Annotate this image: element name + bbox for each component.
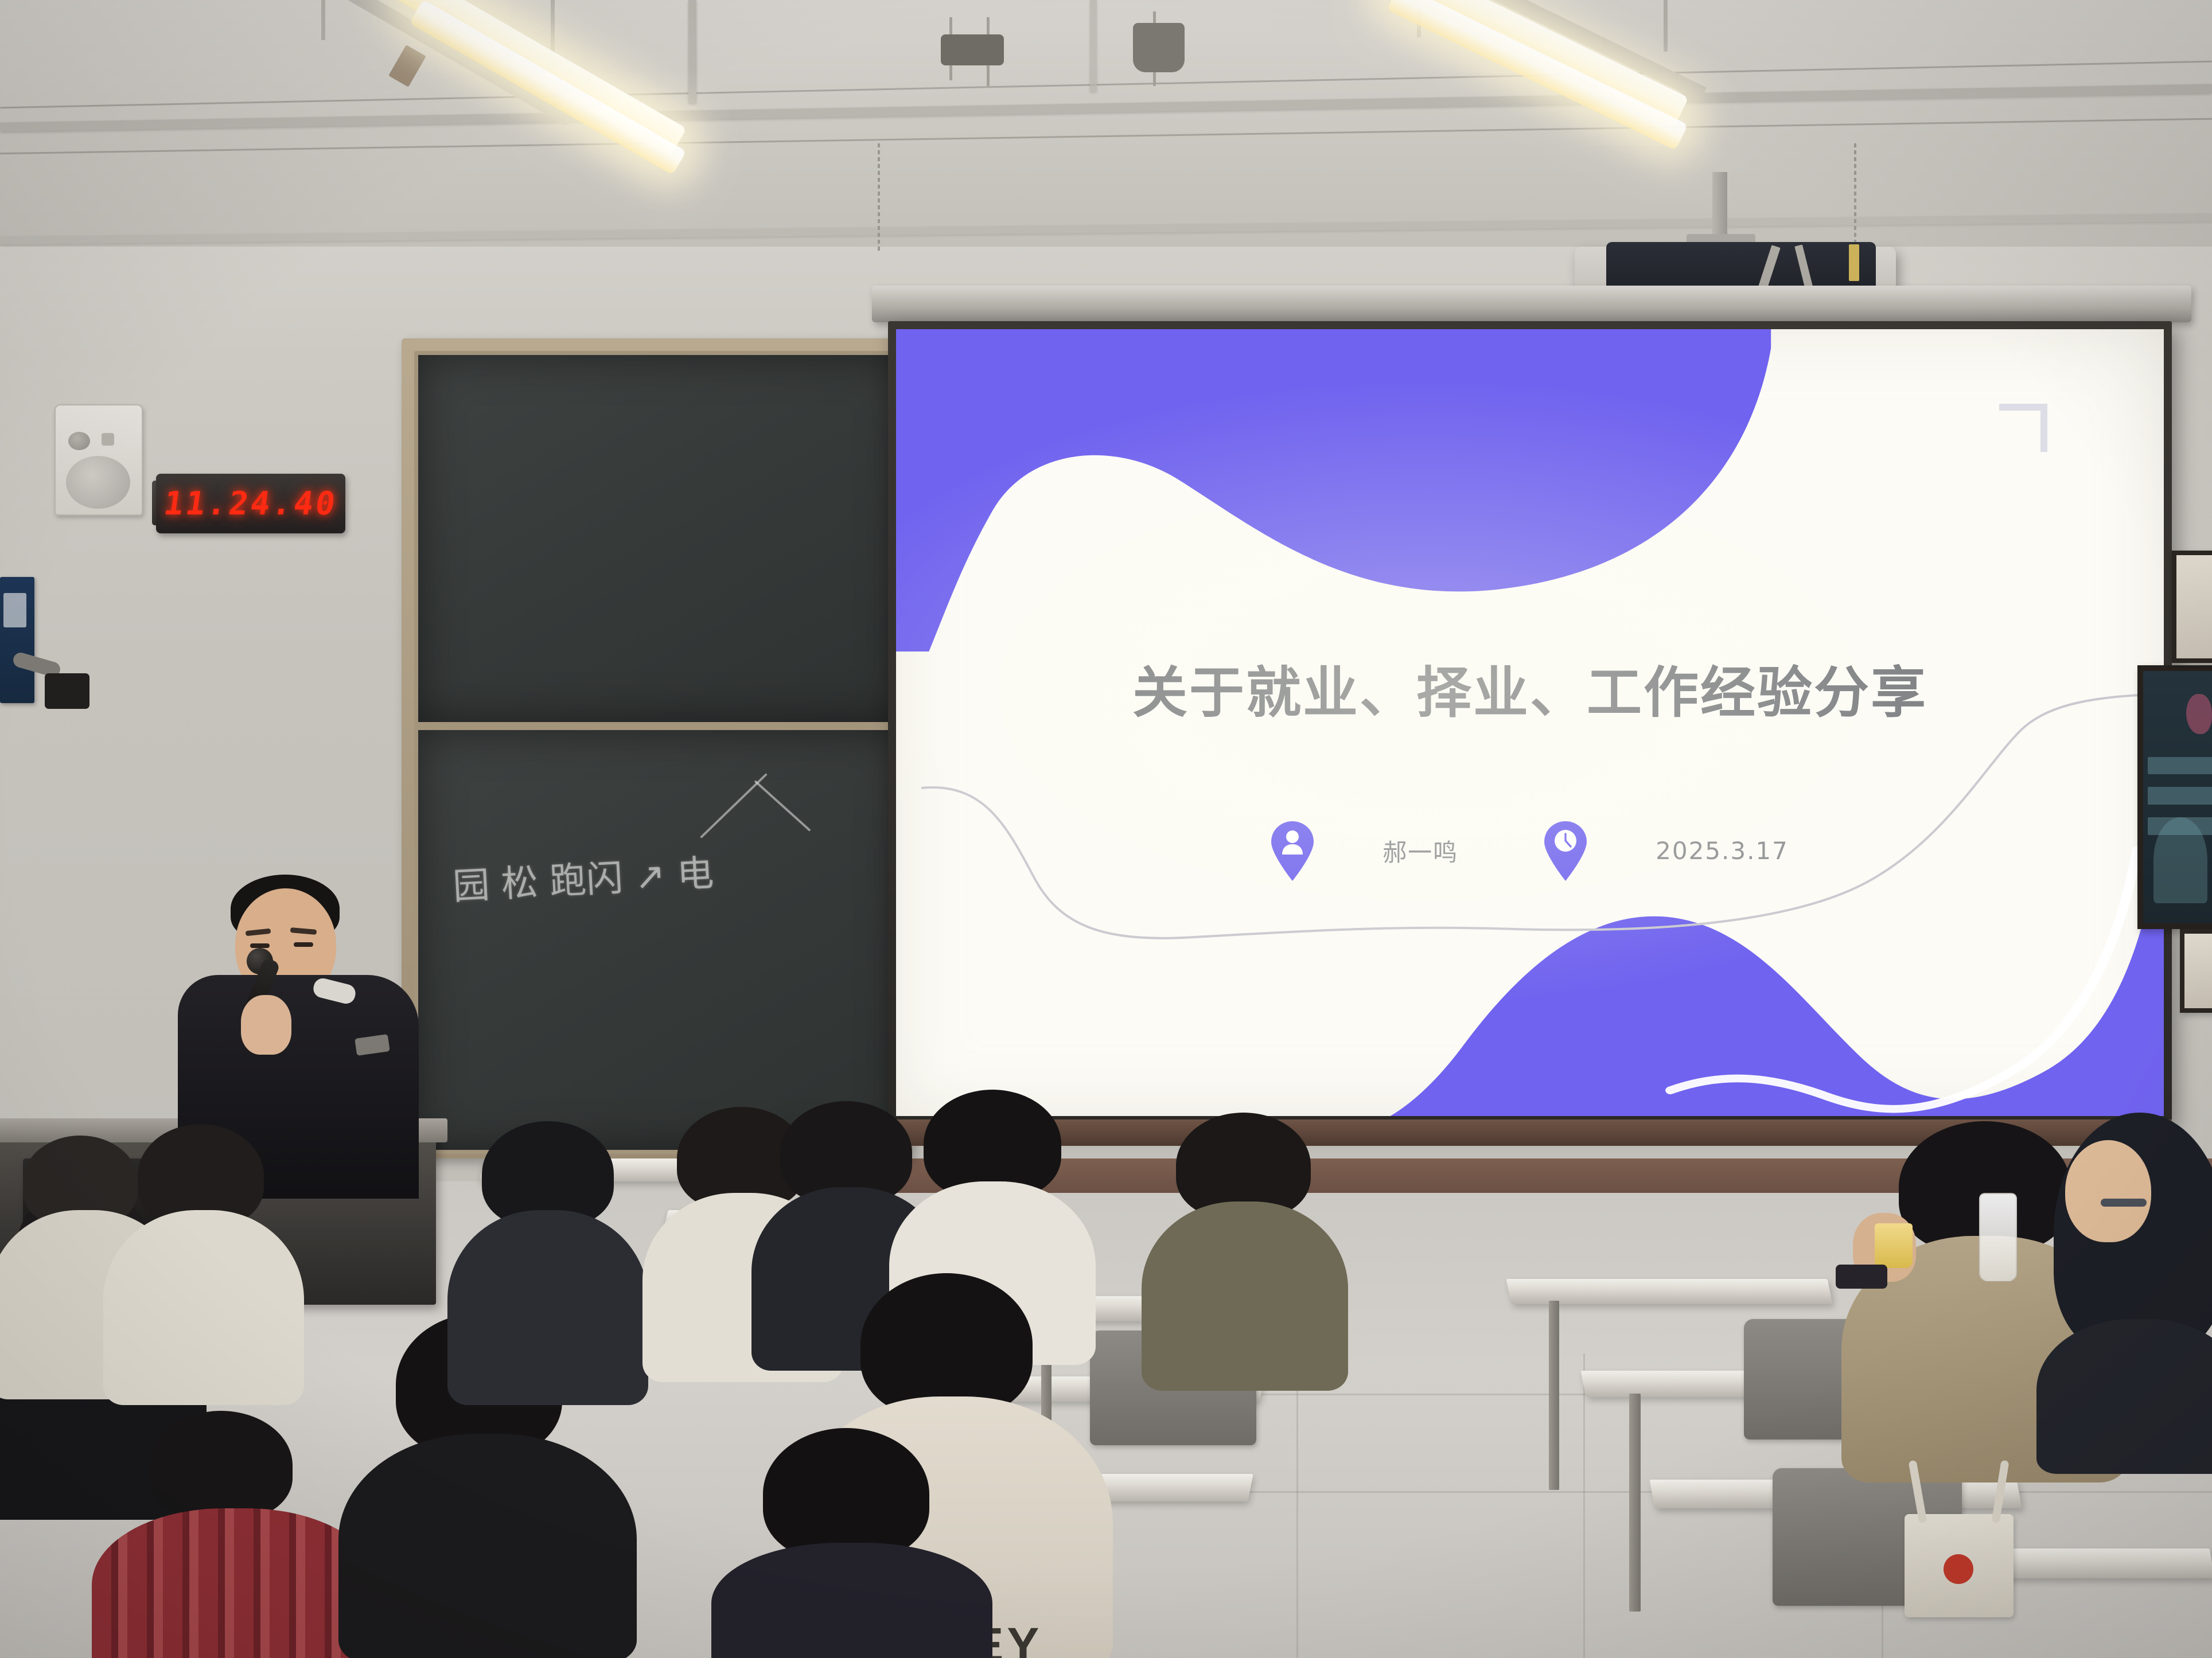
student-hair bbox=[860, 1273, 1033, 1417]
student-dark-jacket bbox=[447, 1121, 642, 1396]
presenter-hand bbox=[241, 995, 291, 1055]
slide-canvas: 关于就业、择业、工作经验分享 郝一鸣 bbox=[896, 329, 2164, 1116]
sign-pictogram bbox=[3, 593, 26, 627]
poster-text-band bbox=[2148, 787, 2212, 805]
student-body bbox=[711, 1543, 992, 1658]
desk-leg bbox=[1629, 1394, 1641, 1612]
student-body bbox=[338, 1434, 637, 1658]
projection-screen: 关于就业、择业、工作经验分享 郝一鸣 bbox=[888, 321, 2172, 1124]
student-hair bbox=[763, 1428, 929, 1560]
floor-tile-line bbox=[1583, 1353, 1585, 1658]
presenter-name: 郝一鸣 bbox=[1382, 833, 1458, 868]
student-body bbox=[2036, 1319, 2212, 1474]
student-body bbox=[1142, 1201, 1348, 1391]
screen-roller-housing bbox=[872, 286, 2191, 322]
desk-leg bbox=[1549, 1301, 1559, 1490]
wall-poster-light bbox=[2180, 929, 2212, 1013]
student-body bbox=[447, 1210, 648, 1405]
student-front-center bbox=[711, 1428, 987, 1657]
water-bottle bbox=[1979, 1193, 2017, 1281]
wall-speaker bbox=[54, 404, 143, 516]
decorative-wave-top-left bbox=[896, 329, 1771, 676]
ceiling-beam-vertical bbox=[688, 0, 696, 103]
presenter-meta: 郝一鸣 bbox=[1271, 821, 1458, 881]
speaker-port bbox=[102, 433, 114, 446]
camera-body bbox=[45, 673, 89, 709]
poster-text-band bbox=[2148, 757, 2212, 775]
student-olive-jacket bbox=[1136, 1113, 1342, 1382]
speaker-woofer bbox=[66, 456, 130, 509]
person-pin-icon bbox=[1271, 821, 1314, 881]
tote-bag bbox=[1905, 1514, 2014, 1617]
presenter-eye bbox=[250, 943, 270, 948]
slide-meta-row: 郝一鸣 2025.3.17 bbox=[896, 821, 2164, 881]
student-hair bbox=[149, 1411, 293, 1520]
light-support-rod bbox=[1664, 0, 1668, 52]
student-body bbox=[103, 1210, 304, 1405]
ceiling-speaker-dome bbox=[1133, 23, 1185, 72]
poster-inner bbox=[2143, 671, 2212, 923]
pen-in-mouth bbox=[2101, 1199, 2147, 1207]
camera-mount bbox=[13, 648, 81, 711]
slide-title: 关于就业、择业、工作经验分享 bbox=[896, 648, 2164, 728]
presenter-eye bbox=[294, 942, 313, 947]
screen-chain bbox=[878, 143, 880, 252]
wall-poster bbox=[2137, 665, 2212, 929]
poster-leaf-art bbox=[2153, 817, 2207, 903]
clock-digits: 11.24.40 bbox=[162, 485, 340, 522]
student-long-hair-dark bbox=[2031, 1113, 2212, 1468]
corner-bracket-decoration bbox=[1999, 404, 2047, 452]
chalk-writing: 园 松 跑闪 ↗ 电 bbox=[451, 844, 715, 910]
chalk-stroke bbox=[754, 780, 811, 832]
poster-flower bbox=[2186, 694, 2211, 734]
digital-wall-clock: 11.24.40 bbox=[156, 474, 345, 533]
blackboard-panel-bottom: 园 松 跑闪 ↗ 电 bbox=[414, 726, 908, 1154]
speaker-tweeter bbox=[68, 432, 90, 450]
projector-pole bbox=[1712, 172, 1727, 242]
ceiling-mount-block bbox=[941, 34, 1004, 65]
date-meta: 2025.3.17 bbox=[1544, 821, 1789, 881]
student-red-plaid bbox=[103, 1411, 356, 1658]
clock-pin-icon bbox=[1544, 821, 1587, 881]
drink-cup bbox=[1875, 1223, 1913, 1268]
blackboard: 园 松 跑闪 ↗ 电 bbox=[402, 338, 912, 1158]
floor-tile-line bbox=[1296, 1353, 1298, 1658]
student-grey-hoodie-2 bbox=[103, 1124, 293, 1394]
presentation-date: 2025.3.17 bbox=[1656, 837, 1789, 865]
screen-chain bbox=[1854, 143, 1856, 252]
student-plaid-shirt bbox=[92, 1508, 379, 1658]
tape-strip-yellow bbox=[1849, 244, 1859, 281]
blackboard-panel-top bbox=[414, 351, 908, 726]
wrist-watch bbox=[1836, 1265, 1887, 1289]
wall-poster-light bbox=[2172, 551, 2212, 663]
classroom-photo: 11.24.40 园 松 跑闪 ↗ 电 bbox=[0, 0, 2212, 1658]
bag-badge bbox=[1944, 1554, 1973, 1584]
student-head bbox=[2065, 1140, 2151, 1242]
ceiling-beam-vertical bbox=[1090, 0, 1097, 92]
light-support-rod bbox=[321, 0, 325, 40]
